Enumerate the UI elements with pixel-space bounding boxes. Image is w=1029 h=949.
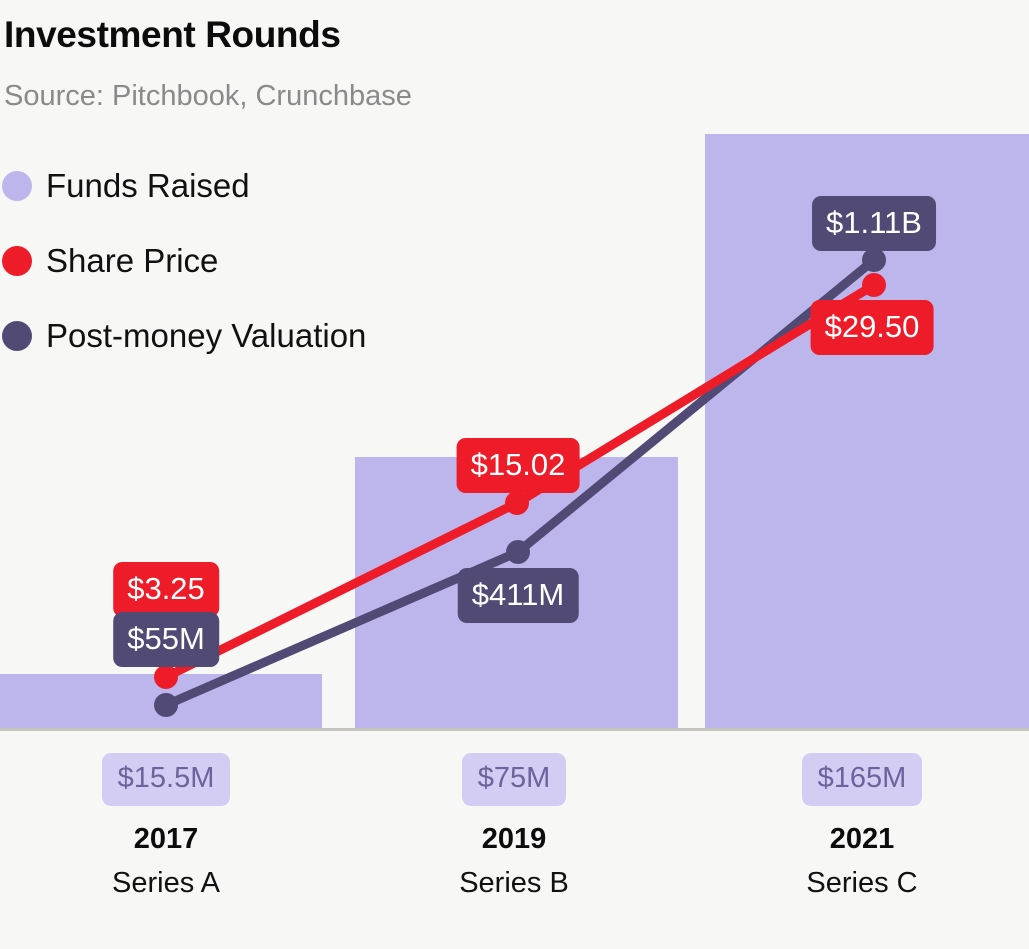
data-point-marker[interactable] <box>862 273 886 297</box>
data-point-marker[interactable] <box>505 491 529 515</box>
x-axis-year: 2021 <box>692 823 1029 856</box>
x-axis-year: 2017 <box>0 823 336 856</box>
plot-area: $3.25 $55M $15.02 $411M $1.11B $29.50 <box>0 0 1029 732</box>
data-point-marker[interactable] <box>154 665 178 689</box>
x-axis-group-2019[interactable]: $75M 2019 Series B <box>344 733 684 900</box>
x-axis-group-2021[interactable]: $165M 2021 Series C <box>692 733 1029 900</box>
value-badge-valuation-2017: $55M <box>113 612 219 667</box>
value-badge-share-price-2021: $29.50 <box>811 300 934 355</box>
funds-raised-pill: $15.5M <box>102 753 231 806</box>
value-badge-share-price-2019: $15.02 <box>457 438 580 493</box>
x-axis-stage: Series B <box>344 867 684 900</box>
funds-raised-pill: $165M <box>802 753 923 806</box>
data-point-marker[interactable] <box>154 693 178 717</box>
x-axis-labels: $15.5M 2017 Series A $75M 2019 Series B … <box>0 733 1029 949</box>
x-axis-year: 2019 <box>344 823 684 856</box>
x-axis-stage: Series C <box>692 867 1029 900</box>
x-axis-group-2017[interactable]: $15.5M 2017 Series A <box>0 733 336 900</box>
value-badge-share-price-2017: $3.25 <box>113 562 219 617</box>
data-point-marker[interactable] <box>862 248 886 272</box>
value-badge-valuation-2021: $1.11B <box>812 196 936 251</box>
data-point-marker[interactable] <box>506 540 530 564</box>
x-axis-stage: Series A <box>0 867 336 900</box>
x-axis-line <box>0 728 1029 731</box>
funds-raised-pill: $75M <box>462 753 567 806</box>
value-badge-valuation-2019: $411M <box>458 568 579 623</box>
investment-rounds-chart: Investment Rounds Source: Pitchbook, Cru… <box>0 0 1029 949</box>
